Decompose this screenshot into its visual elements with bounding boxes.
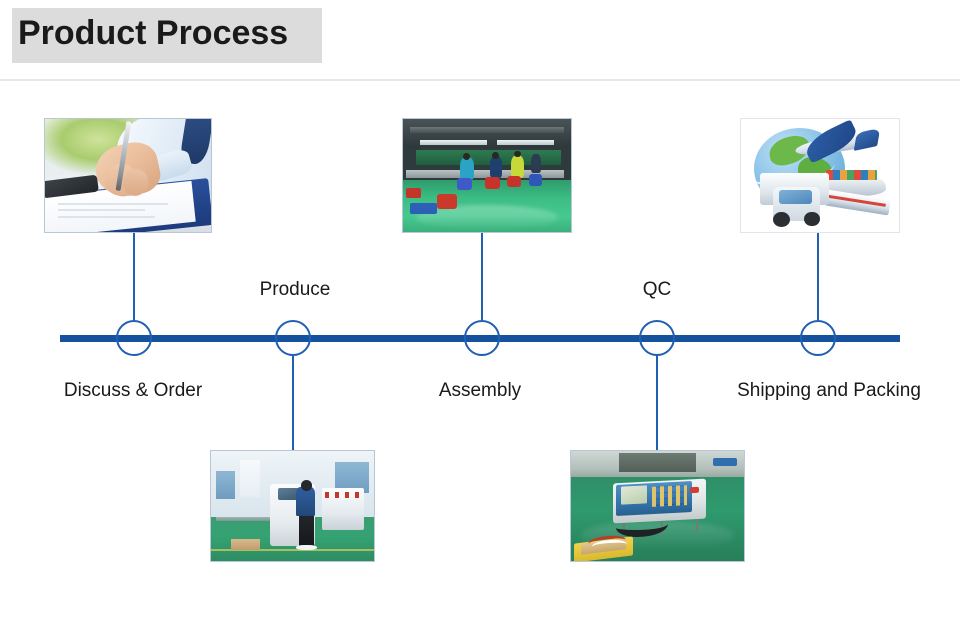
timeline-node-4[interactable] (639, 320, 675, 356)
stool (529, 174, 542, 185)
timeline-node-3[interactable] (464, 320, 500, 356)
plastic-crate (437, 194, 457, 210)
photo-assembly-content (403, 119, 571, 232)
instrument-keypad (652, 485, 687, 507)
operator-legs (299, 513, 314, 546)
ceiling-duct (410, 127, 565, 133)
notice-board (240, 460, 260, 497)
step-label-produce: Produce (260, 279, 331, 301)
photo-produce-content (211, 451, 374, 561)
step-label-discuss-order: Discuss & Order (64, 380, 202, 402)
work-table (216, 517, 271, 521)
photo-qc[interactable] (570, 450, 745, 562)
ceiling-lamp (420, 140, 487, 145)
power-button (690, 487, 699, 493)
step-label-assembly: Assembly (439, 380, 521, 402)
connector-line-2 (292, 356, 294, 450)
timeline-node-1[interactable] (116, 320, 152, 356)
cardboard-box (231, 539, 260, 550)
wall-panel (216, 471, 236, 500)
worker (531, 154, 541, 173)
worker (490, 156, 502, 177)
photo-assembly[interactable] (402, 118, 572, 233)
photo-discuss-order[interactable] (44, 118, 212, 233)
operator-head (301, 480, 312, 491)
slide-canvas: Product Process (0, 0, 960, 617)
operator-shoes (296, 545, 317, 551)
ceiling-lamp (497, 140, 554, 145)
plastic-crate (406, 188, 421, 198)
document-line (58, 209, 144, 211)
worker-head (492, 152, 499, 159)
worker-head (463, 153, 470, 160)
connector-line-4 (656, 356, 658, 450)
worker (511, 155, 524, 178)
worker-head (514, 151, 521, 158)
background-bench (619, 453, 695, 472)
page-title: Product Process (18, 14, 288, 53)
photo-produce[interactable] (210, 450, 375, 562)
photo-discuss-order-content (45, 119, 211, 232)
step-label-shipping: Shipping and Packing (737, 380, 921, 402)
stool (485, 177, 500, 189)
plastic-crate (410, 203, 437, 214)
connector-line-5 (817, 233, 819, 320)
blue-bin (713, 458, 737, 467)
operator-torso (296, 487, 316, 516)
step-label-qc: QC (643, 279, 672, 301)
photo-shipping-content (741, 119, 899, 232)
instrument-screen (621, 486, 647, 505)
instrument-leg (696, 517, 698, 532)
header-divider (0, 79, 960, 81)
stool (457, 178, 472, 190)
shipping-containers (826, 170, 877, 180)
control-knobs (325, 492, 361, 499)
timeline-node-5[interactable] (800, 320, 836, 356)
photo-qc-content (571, 451, 744, 561)
worker (460, 157, 473, 180)
stool (507, 176, 520, 187)
document-line (58, 216, 154, 218)
photo-shipping[interactable] (740, 118, 900, 233)
timeline-node-2[interactable] (275, 320, 311, 356)
truck-windshield (779, 190, 812, 204)
connector-line-3 (481, 233, 483, 320)
connector-line-1 (133, 233, 135, 320)
document-line (58, 203, 168, 205)
